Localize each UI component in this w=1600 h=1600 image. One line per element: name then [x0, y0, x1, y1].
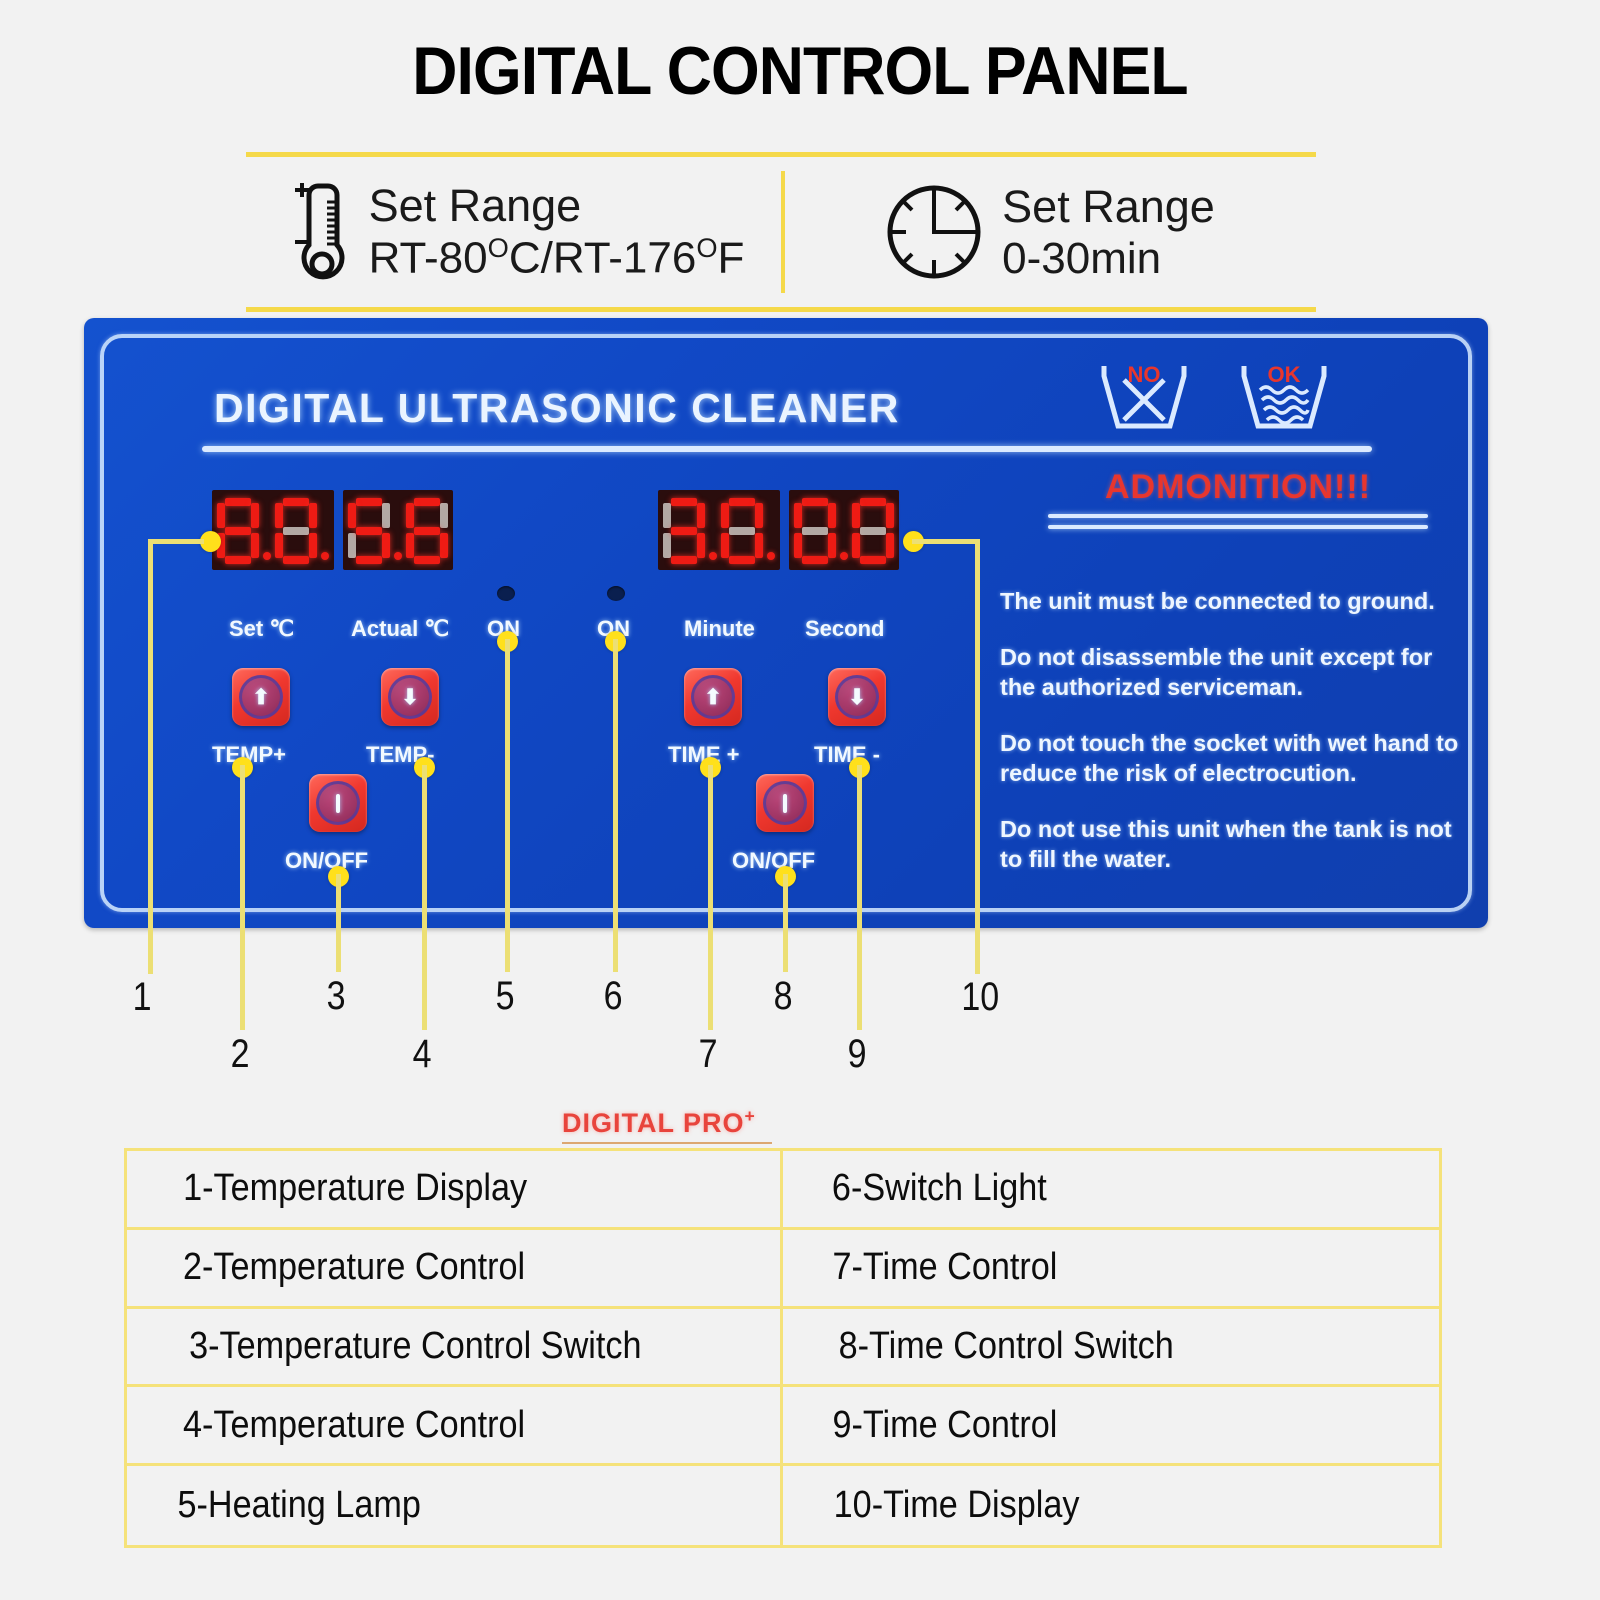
- spec-time-line2: 0-30min: [1002, 233, 1215, 285]
- temperature-actual-cell: [343, 490, 453, 570]
- temperature-set-cell: [212, 490, 334, 570]
- admonition-header: ADMONITION!!!: [1048, 468, 1428, 529]
- seg-digit-3: [663, 498, 705, 564]
- callout-number-8: 8: [774, 974, 793, 1019]
- legend-cell: 2-Temperature Control: [127, 1230, 783, 1309]
- heating-lamp-led: [497, 586, 515, 601]
- time-down-button[interactable]: ⬇: [828, 668, 886, 726]
- switch-light-led: [607, 586, 625, 601]
- control-panel: DIGITAL ULTRASONIC CLEANER NO OK: [84, 318, 1488, 928]
- admonition-rule-bottom: [1048, 525, 1428, 529]
- label-temp-onoff: ON/OFF: [285, 848, 368, 874]
- callout-number-5: 5: [496, 974, 515, 1019]
- legend-cell: 3-Temperature Control Switch: [127, 1309, 783, 1388]
- control-panel-face: DIGITAL ULTRASONIC CLEANER NO OK: [84, 318, 1488, 928]
- power-icon: [763, 781, 807, 825]
- callout-number-4: 4: [413, 1032, 432, 1077]
- temperature-display: [212, 490, 453, 570]
- arrow-up-icon: ⬆: [239, 675, 283, 719]
- basket-ok-icon: OK: [1244, 362, 1324, 426]
- panel-brand-rule: [202, 446, 1372, 452]
- spec-temperature-text: Set Range RT-80OC/RT-176OF: [369, 179, 745, 285]
- admonition-rule-top: [1048, 514, 1428, 518]
- admonition-item: The unit must be connected to ground.: [1000, 586, 1460, 616]
- legend-cell: 9-Time Control: [783, 1387, 1439, 1466]
- callout-number-9: 9: [848, 1032, 867, 1077]
- label-actual-c: Actual ℃: [351, 616, 449, 642]
- seg-digit-5: [348, 498, 390, 564]
- seg-dot: [321, 552, 329, 560]
- admonition-item: Do not disassemble the unit except for t…: [1000, 642, 1460, 702]
- legend-cell: 8-Time Control Switch: [783, 1309, 1439, 1388]
- seg-dot: [840, 552, 848, 560]
- label-temp-minus: TEMP-: [366, 742, 434, 768]
- admonition-item: Do not touch the socket with wet hand to…: [1000, 728, 1460, 788]
- digital-pro-logo: DIGITAL PRO+: [562, 1106, 756, 1139]
- label-minute: Minute: [684, 616, 755, 642]
- seg-dot: [709, 552, 717, 560]
- legend-cell: 4-Temperature Control: [127, 1387, 783, 1466]
- callout-number-3: 3: [327, 974, 346, 1019]
- thermometer-icon: [283, 176, 353, 288]
- legend-cell: 10-Time Display: [783, 1466, 1439, 1545]
- temp-down-button[interactable]: ⬇: [381, 668, 439, 726]
- spec-temperature-line2: RT-80OC/RT-176OF: [369, 232, 745, 285]
- seg-dot: [767, 552, 775, 560]
- callout-number-2: 2: [231, 1032, 250, 1077]
- spec-temperature-line1: Set Range: [369, 179, 745, 232]
- panel-brand-title: DIGITAL ULTRASONIC CLEANER: [214, 385, 900, 432]
- label-time-plus: TIME +: [668, 742, 740, 768]
- time-up-button[interactable]: ⬆: [684, 668, 742, 726]
- admonition-list: The unit must be connected to ground. Do…: [1000, 586, 1460, 875]
- callout-number-7: 7: [699, 1032, 718, 1077]
- spec-bar: Set Range RT-80OC/RT-176OF Set Range: [246, 152, 1316, 312]
- seg-dot: [394, 552, 402, 560]
- legend-cell: 1-Temperature Display: [127, 1151, 783, 1230]
- callout-number-10: 10: [961, 975, 999, 1020]
- callout-number-6: 6: [604, 974, 623, 1019]
- seg-digit-8: [794, 498, 836, 564]
- spec-time-text: Set Range 0-30min: [1002, 180, 1215, 285]
- label-time-minus: TIME -: [814, 742, 880, 768]
- seg-digit-0: [275, 498, 317, 564]
- label-time-onoff: ON/OFF: [732, 848, 815, 874]
- spec-temperature: Set Range RT-80OC/RT-176OF: [246, 157, 781, 307]
- legend-cell: 5-Heating Lamp: [127, 1466, 783, 1545]
- arrow-up-icon: ⬆: [691, 675, 735, 719]
- label-second: Second: [805, 616, 884, 642]
- label-on-switch: ON: [597, 616, 630, 642]
- legend-cell: 7-Time Control: [783, 1230, 1439, 1309]
- legend-cell: 6-Switch Light: [783, 1151, 1439, 1230]
- seg-digit-0: [721, 498, 763, 564]
- arrow-down-icon: ⬇: [388, 675, 432, 719]
- spec-time-line1: Set Range: [1002, 180, 1215, 233]
- basket-no-icon: NO: [1104, 362, 1184, 426]
- temp-onoff-button[interactable]: [309, 774, 367, 832]
- seg-digit-0: [852, 498, 894, 564]
- admonition-item: Do not use this unit when the tank is no…: [1000, 814, 1460, 874]
- clock-icon: [882, 180, 986, 284]
- seg-digit-8: [217, 498, 259, 564]
- basket-icons-group: NO OK: [1094, 358, 1344, 438]
- page-title: DIGITAL CONTROL PANEL: [64, 32, 1536, 110]
- svg-text:OK: OK: [1268, 362, 1301, 387]
- time-display: [658, 490, 899, 570]
- svg-text:NO: NO: [1128, 362, 1161, 387]
- seg-digit-6: [406, 498, 448, 564]
- power-icon: [316, 781, 360, 825]
- admonition-title: ADMONITION!!!: [1048, 468, 1428, 507]
- time-minute-cell: [658, 490, 780, 570]
- spec-time: Set Range 0-30min: [781, 157, 1316, 307]
- label-on-heating: ON: [487, 616, 520, 642]
- time-onoff-button[interactable]: [756, 774, 814, 832]
- seg-dot: [263, 552, 271, 560]
- time-second-cell: [789, 490, 899, 570]
- callout-number-1: 1: [133, 975, 152, 1020]
- digital-pro-logo-rule: [562, 1142, 772, 1144]
- label-temp-plus: TEMP+: [212, 742, 286, 768]
- arrow-down-icon: ⬇: [835, 675, 879, 719]
- temp-up-button[interactable]: ⬆: [232, 668, 290, 726]
- legend-table: 1-Temperature Display 6-Switch Light 2-T…: [124, 1148, 1442, 1548]
- label-set-c: Set ℃: [229, 616, 294, 642]
